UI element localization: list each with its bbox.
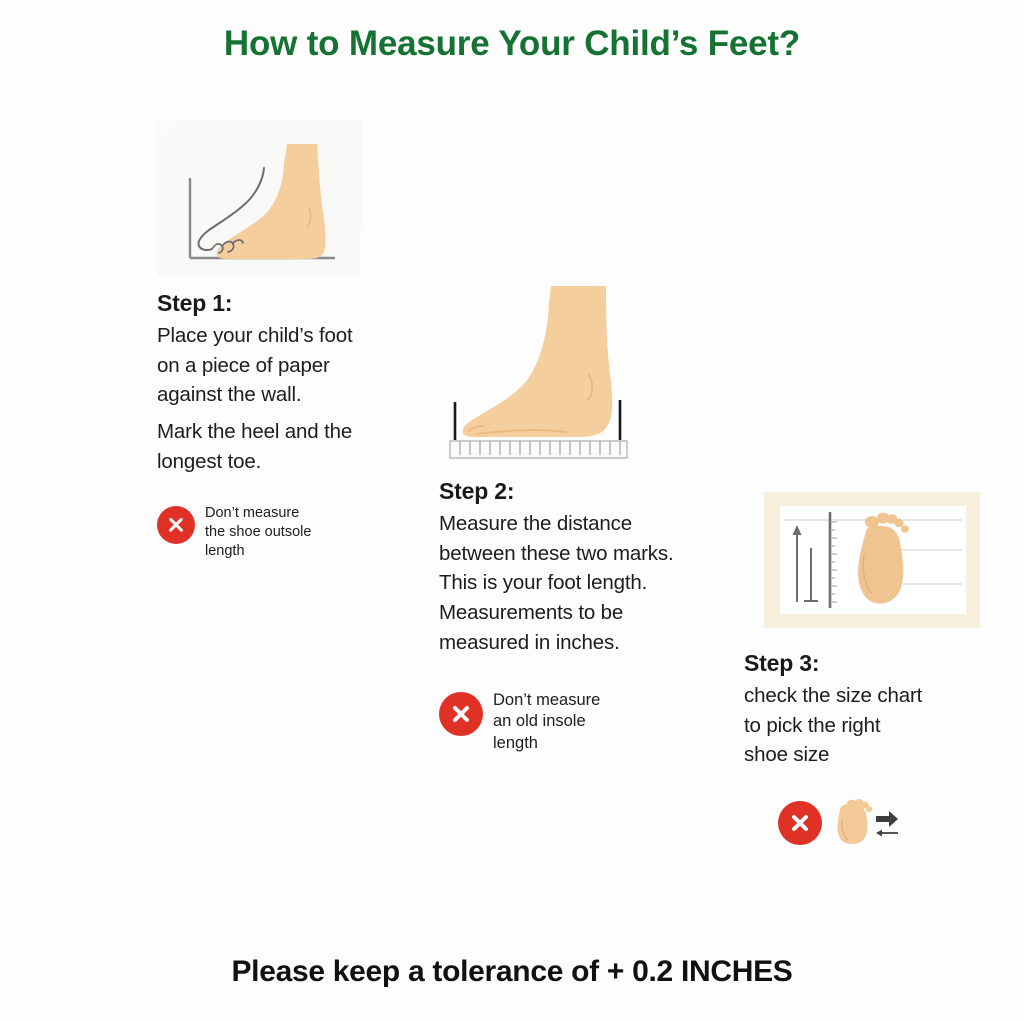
- red-x-circle-icon: [778, 801, 822, 845]
- step-3-text: Step 3: check the size chart to pick the…: [744, 650, 974, 770]
- page-title: How to Measure Your Child’s Feet?: [0, 24, 1024, 64]
- step-1-line-2: on a piece of paper: [157, 351, 372, 381]
- step-1-body: Place your child’s foot on a piece of pa…: [157, 321, 372, 477]
- foot-on-ruler-with-marks-icon: [446, 282, 641, 460]
- step-2-body: Measure the distance between these two m…: [439, 509, 739, 658]
- step-1-line-3: against the wall.: [157, 380, 372, 410]
- footprint-with-arrows-icon: [832, 798, 900, 846]
- step-2-line-3: This is your foot length.: [439, 568, 739, 598]
- step-2-text: Step 2: Measure the distance between the…: [439, 478, 739, 658]
- step-2-warning-text: Don’t measure an old insole length: [493, 690, 600, 755]
- step-1-heading: Step 1:: [157, 290, 372, 317]
- step-3-body: check the size chart to pick the right s…: [744, 681, 974, 770]
- footprint-arrows-glyph: [832, 798, 900, 846]
- step-2-warning-line-1: Don’t measure: [493, 690, 600, 712]
- red-x-circle-icon: [439, 692, 483, 736]
- step-2-line-4: Measurements to be: [439, 598, 739, 628]
- size-chart-card: [780, 506, 966, 614]
- step-1-illustration: [157, 120, 361, 276]
- step-1-warning-line-1: Don’t measure: [205, 504, 311, 523]
- step-2-line-5: measured in inches.: [439, 628, 739, 658]
- step-3-block: Step 3: check the size chart to pick the…: [744, 492, 974, 846]
- step-3-line-1: check the size chart: [744, 681, 974, 711]
- tolerance-note: Please keep a tolerance of + 0.2 INCHES: [0, 955, 1024, 989]
- step-3-line-2: to pick the right: [744, 711, 974, 741]
- step-1-warning-text: Don’t measure the shoe outsole length: [205, 504, 311, 561]
- step-1-line-5: longest toe.: [157, 447, 372, 477]
- step-3-line-3: shoe size: [744, 740, 974, 770]
- step-1-warning-line-2: the shoe outsole: [205, 523, 311, 542]
- step-1-block: Step 1: Place your child’s foot on a pie…: [157, 120, 377, 561]
- step-2-line-2: between these two marks.: [439, 539, 739, 569]
- step-3-heading: Step 3:: [744, 650, 974, 677]
- step-1-warning: Don’t measure the shoe outsole length: [157, 504, 377, 561]
- step-1-spacer: [157, 410, 372, 417]
- step-2-illustration: [446, 282, 641, 460]
- step-2-warning-line-3: length: [493, 733, 600, 755]
- foot-traced-against-wall-icon: [157, 120, 361, 276]
- step-1-line-4: Mark the heel and the: [157, 417, 372, 447]
- step-1-text: Step 1: Place your child’s foot on a pie…: [157, 290, 372, 477]
- step-2-warning-line-2: an old insole: [493, 711, 600, 733]
- step-3-warning: [778, 798, 974, 846]
- red-x-circle-icon: [157, 506, 195, 544]
- poster-canvas: How to Measure Your Child’s Feet? Step 1…: [0, 0, 1024, 1021]
- step-1-warning-line-3: length: [205, 542, 311, 561]
- size-chart-with-footprint-icon: [780, 506, 966, 614]
- step-2-line-1: Measure the distance: [439, 509, 739, 539]
- step-2-block: Step 2: Measure the distance between the…: [439, 282, 739, 755]
- step-3-illustration: [764, 492, 980, 628]
- step-2-heading: Step 2:: [439, 478, 739, 505]
- step-2-warning: Don’t measure an old insole length: [439, 690, 739, 755]
- step-1-line-1: Place your child’s foot: [157, 321, 372, 351]
